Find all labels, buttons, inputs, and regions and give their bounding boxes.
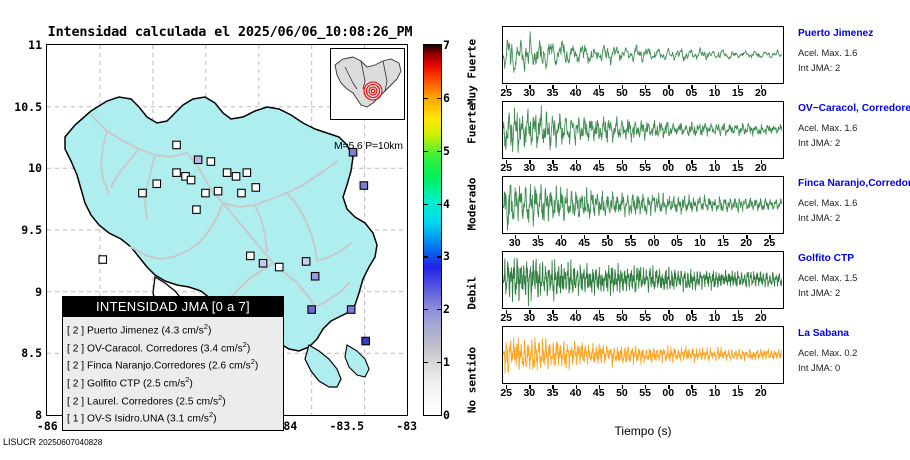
station-marker xyxy=(223,169,231,177)
waveform-time-axis: 253035404550550005101520 xyxy=(502,385,784,399)
legend-level: [ 1 ] xyxy=(67,414,84,425)
station-marker xyxy=(232,173,240,181)
waveform-time-axis: 253035404550550005101520 xyxy=(502,160,784,174)
lon-tick-label: -83 xyxy=(377,419,437,433)
colorbar-tick xyxy=(423,151,428,152)
waveform-jma-intensity: Int JMA: 2 xyxy=(798,212,840,223)
colorbar-tick xyxy=(423,309,428,310)
station-marker xyxy=(214,187,222,195)
legend-row: [ 1 ] OV-S Isidro.UNA (3.1 cm/s2) xyxy=(67,408,278,426)
legend-row: [ 2 ] Laurel. Corredores (2.5 cm/s2) xyxy=(67,391,278,409)
station-marker xyxy=(202,189,210,197)
colorbar-number: 2 xyxy=(443,302,450,316)
legend-row: [ 2 ] Golfito CTP (2.5 cm/s2) xyxy=(67,373,278,391)
station-marker xyxy=(187,176,195,184)
legend-tail: ) xyxy=(247,343,250,354)
colorbar-tick xyxy=(437,256,442,257)
station-marker xyxy=(308,306,316,314)
colorbar-number: 1 xyxy=(443,355,450,369)
legend-level: [ 2 ] xyxy=(67,378,84,389)
legend-tail: ) xyxy=(208,325,211,336)
colorbar-categories: Muy FuerteFuerteModeradoDebilNo sentido xyxy=(460,44,484,416)
waveform-max-accel: Acel. Max. 0.2 xyxy=(798,347,857,358)
legend-level: [ 2 ] xyxy=(67,396,84,407)
footer-credit: LISUCR 20250607040828 xyxy=(3,437,102,447)
colorbar-tick xyxy=(423,362,428,363)
waveform-max-accel: Acel. Max. 1.6 xyxy=(798,47,857,58)
legend-tail: ) xyxy=(189,378,192,389)
station-marker xyxy=(302,258,310,266)
lat-tick-label: 10 xyxy=(4,161,42,175)
legend-station: Puerto Jimenez xyxy=(87,325,159,336)
colorbar-tick xyxy=(423,98,428,99)
station-marker xyxy=(207,158,215,166)
waveform-station-name: Finca Naranjo,Corredor xyxy=(798,178,910,189)
station-marker xyxy=(243,169,251,177)
waveform-trace xyxy=(503,102,782,157)
legend-row: [ 2 ] OV-Caracol. Corredores (3.4 cm/s2) xyxy=(67,338,278,356)
legend-value: (3.4 cm/s xyxy=(200,343,242,354)
legend-row: [ 2 ] Puerto Jimenez (4.3 cm/s2) xyxy=(67,320,278,338)
lat-tick-label: 8.5 xyxy=(4,346,42,360)
waveform-station-name: La Sabana xyxy=(798,328,849,339)
station-marker xyxy=(173,141,181,149)
legend-station: OV-Caracol. Corredores xyxy=(87,343,197,354)
colorbar-category: Muy Fuerte xyxy=(466,38,479,104)
legend-tail: ) xyxy=(222,396,225,407)
legend-rows: [ 2 ] Puerto Jimenez (4.3 cm/s2)[ 2 ] OV… xyxy=(63,317,283,430)
legend-value: (2.5 cm/s xyxy=(176,396,218,407)
legend-station: OV-S Isidro.UNA xyxy=(87,414,164,425)
station-marker xyxy=(360,182,368,190)
legend-value: (2.6 cm/s xyxy=(208,361,250,372)
waveform-time-axis: 303540455055000510152025 xyxy=(502,235,784,249)
waveform-jma-intensity: Int JMA: 2 xyxy=(798,137,840,148)
station-marker xyxy=(362,337,370,345)
colorbar-tick xyxy=(437,362,442,363)
legend-row: [ 2 ] Finca Naranjo.Corredores (2.6 cm/s… xyxy=(67,355,278,373)
colorbar-ticks xyxy=(423,44,442,416)
colorbar-numbers: 76543210 xyxy=(443,44,459,416)
colorbar-number: 5 xyxy=(443,144,450,158)
waveform-jma-intensity: Int JMA: 2 xyxy=(798,287,840,298)
station-marker xyxy=(252,184,260,192)
lat-tick-label: 10.5 xyxy=(4,100,42,114)
waveform-station-name: Puerto Jimenez xyxy=(798,28,873,39)
legend-station: Laurel. Corredores xyxy=(87,396,173,407)
colorbar-number: 0 xyxy=(443,408,450,422)
waveform-plot[interactable] xyxy=(502,26,784,84)
station-marker xyxy=(311,273,319,281)
station-marker xyxy=(238,189,246,197)
time-tick-label: 20 xyxy=(746,312,776,324)
station-marker xyxy=(99,256,107,263)
waveform-time-axis: 253035404550550005101520 xyxy=(502,310,784,324)
legend-value: (4.3 cm/s xyxy=(161,325,203,336)
station-marker xyxy=(193,206,201,214)
waveform-plot[interactable] xyxy=(502,101,784,159)
legend-title: INTENSIDAD JMA [0 a 7] xyxy=(63,297,283,317)
colorbar-tick xyxy=(423,256,428,257)
colorbar-category: Moderado xyxy=(466,177,479,230)
station-marker xyxy=(247,252,255,260)
legend-tail: ) xyxy=(213,414,216,425)
colorbar-tick xyxy=(437,204,442,205)
colorbar-number: 7 xyxy=(443,38,450,52)
legend-level: [ 2 ] xyxy=(67,361,84,372)
station-marker xyxy=(194,156,202,164)
waveform-trace xyxy=(503,252,782,307)
waveform-trace xyxy=(503,27,782,82)
colorbar-number: 6 xyxy=(443,91,450,105)
time-tick-label: 20 xyxy=(746,387,776,399)
waveform-trace xyxy=(503,327,782,382)
waveform-plot[interactable] xyxy=(502,176,784,234)
waveform-max-accel: Acel. Max. 1.6 xyxy=(798,197,857,208)
intensity-legend: INTENSIDAD JMA [0 a 7] [ 2 ] Puerto Jime… xyxy=(62,296,284,431)
lat-tick-label: 9 xyxy=(4,285,42,299)
waveform-plot[interactable] xyxy=(502,326,784,384)
lat-tick-label: 9.5 xyxy=(4,223,42,237)
colorbar-category: Debil xyxy=(466,277,479,310)
inset-graphic xyxy=(331,49,404,119)
waveform-station-name: OV−Caracol, Corredore xyxy=(798,103,910,114)
waveform-max-accel: Acel. Max. 1.6 xyxy=(798,122,857,133)
colorbar-number: 4 xyxy=(443,197,450,211)
station-marker xyxy=(259,260,267,268)
waveform-jma-intensity: Int JMA: 2 xyxy=(798,62,840,73)
time-tick-label: 25 xyxy=(754,237,784,249)
footer-agency: LISUCR xyxy=(3,437,36,447)
latitude-axis: 1110.5109.598.58 xyxy=(0,44,42,416)
colorbar-category: No sentido xyxy=(466,347,479,413)
colorbar-number: 3 xyxy=(443,249,450,263)
waveform-station-name: Golfito CTP xyxy=(798,253,854,264)
legend-tail: ) xyxy=(255,361,258,372)
time-tick-label: 20 xyxy=(746,87,776,99)
page-title: Intensidad calculada el 2025/06/06_10:08… xyxy=(0,24,460,40)
waveform-max-accel: Acel. Max. 1.5 xyxy=(798,272,857,283)
legend-level: [ 2 ] xyxy=(67,325,84,336)
colorbar-tick xyxy=(437,309,442,310)
time-tick-label: 20 xyxy=(746,162,776,174)
legend-station: Golfito CTP xyxy=(87,378,140,389)
legend-value: (3.1 cm/s xyxy=(167,414,209,425)
lat-tick-label: 11 xyxy=(4,38,42,52)
waveform-time-axis: 253035404550550005101520 xyxy=(502,85,784,99)
waveform-trace xyxy=(503,177,782,232)
station-marker xyxy=(139,189,147,197)
station-marker xyxy=(347,306,355,314)
colorbar-tick xyxy=(437,151,442,152)
magnitude-depth-label: M=5.6 P=10km xyxy=(334,140,403,152)
time-axis-label: Tiempo (s) xyxy=(502,424,784,438)
legend-level: [ 2 ] xyxy=(67,343,84,354)
colorbar-tick xyxy=(423,204,428,205)
station-marker xyxy=(153,180,161,188)
waveform-plot[interactable] xyxy=(502,251,784,309)
colorbar-tick xyxy=(437,98,442,99)
epicenter-inset-map[interactable] xyxy=(330,48,405,120)
station-marker xyxy=(276,263,284,271)
lon-tick-label: -83.5 xyxy=(317,419,377,433)
footer-code: 20250607040828 xyxy=(39,438,103,447)
legend-value: (2.5 cm/s xyxy=(143,378,185,389)
colorbar-category: Fuerte xyxy=(466,105,479,145)
legend-station: Finca Naranjo.Corredores xyxy=(87,361,205,372)
station-marker xyxy=(173,169,181,177)
waveform-jma-intensity: Int JMA: 0 xyxy=(798,362,840,373)
